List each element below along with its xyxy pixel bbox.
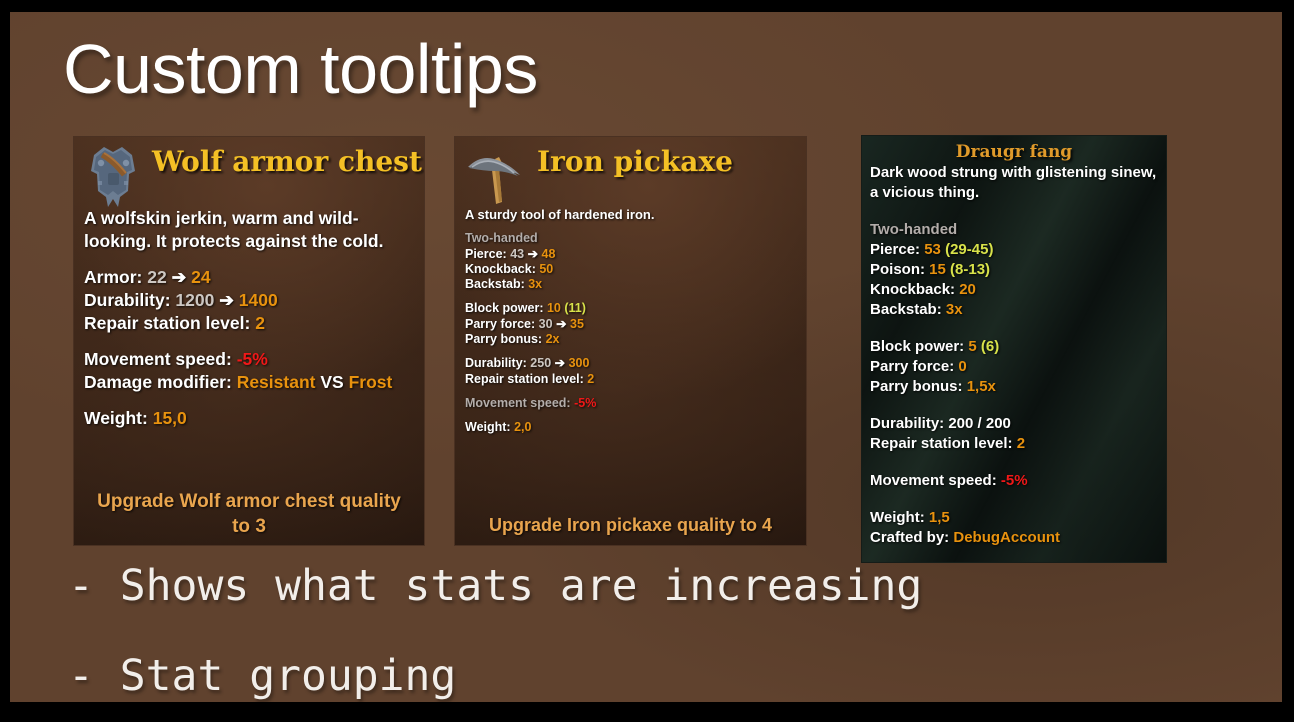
- stat-label: Repair station level:: [465, 372, 584, 386]
- stat-old-value: 30: [539, 317, 553, 331]
- tooltip-body: A wolfskin jerkin, warm and wild-looking…: [84, 207, 414, 430]
- stat-label: Parry bonus:: [870, 378, 963, 395]
- stat-value: 15,0: [153, 408, 187, 428]
- stat-label: Block power:: [870, 338, 964, 355]
- stat-old-value: 22: [147, 267, 166, 287]
- stat-parry-force: Parry force: 30 ➔ 35: [465, 317, 654, 332]
- stat-value-range: (8-13): [950, 261, 990, 278]
- stat-durability: Durability: 250 ➔ 300: [465, 356, 654, 371]
- arrow-right-icon: ➔: [172, 267, 187, 287]
- stat-crafted-by: Crafted by: DebugAccount: [870, 528, 1164, 548]
- stat-durability: Durability: 200 / 200: [870, 414, 1164, 434]
- stat-poison: Poison: 15 (8-13): [870, 260, 1164, 280]
- stat-backstab: Backstab: 3x: [465, 277, 654, 292]
- page-title: Custom tooltips: [63, 34, 538, 104]
- stat-weight: Weight: 2,0: [465, 420, 654, 435]
- stat-label: Movement speed:: [84, 349, 232, 369]
- bullet-list: - Shows what stats are increasing - Stat…: [68, 564, 1168, 702]
- arrow-right-icon: ➔: [556, 317, 566, 331]
- stat-label: Damage modifier:: [84, 372, 232, 392]
- stat-value: 15: [929, 261, 946, 278]
- stat-label: Movement speed:: [870, 472, 997, 489]
- stat-label: Durability:: [465, 356, 527, 370]
- tooltip-wolf-armor-chest[interactable]: Wolf armor chest A wolfskin jerkin, warm…: [73, 136, 425, 546]
- upgrade-quality-text[interactable]: Upgrade Iron pickaxe quality to 4: [455, 513, 806, 537]
- stat-value-range: (29-45): [945, 241, 993, 258]
- tooltip-title: Wolf armor chest: [152, 145, 422, 178]
- item-description: A sturdy tool of hardened iron.: [465, 207, 654, 222]
- stat-knockback: Knockback: 20: [870, 280, 1164, 300]
- stat-value: 0: [958, 358, 966, 375]
- slide-canvas: Custom tooltips Wolf a: [10, 12, 1282, 702]
- stat-value: -5%: [1001, 472, 1028, 489]
- stat-value: Resistant: [237, 372, 316, 392]
- item-description: Dark wood strung with glistening sinew, …: [870, 163, 1164, 203]
- arrow-right-icon: ➔: [555, 356, 565, 370]
- stat-old-value: 250: [530, 356, 551, 370]
- stat-label: Crafted by:: [870, 529, 949, 546]
- stat-value-range: (6): [981, 338, 999, 355]
- stat-label: Pierce:: [465, 247, 507, 261]
- stat-weight: Weight: 1,5: [870, 508, 1164, 528]
- stat-value: 53: [924, 241, 941, 258]
- stat-value: 1,5: [929, 509, 950, 526]
- stat-weight: Weight: 15,0: [84, 407, 414, 430]
- item-description: A wolfskin jerkin, warm and wild-looking…: [84, 207, 414, 253]
- stat-label: Movement speed:: [465, 396, 571, 410]
- iron-pickaxe-icon: [463, 143, 529, 209]
- stat-movement-speed: Movement speed: -5%: [465, 396, 654, 411]
- bullet-item: - Stat grouping: [68, 654, 1168, 700]
- stat-handedness: Two-handed: [465, 231, 654, 246]
- stat-value: 1,5x: [967, 378, 996, 395]
- stat-new-value: 1400: [239, 290, 278, 310]
- stat-label: Block power:: [465, 301, 544, 315]
- tooltip-title: Draugr fang: [862, 142, 1166, 162]
- stat-new-value: 300: [569, 356, 590, 370]
- stat-label: Backstab:: [465, 277, 525, 291]
- stat-parry-bonus: Parry bonus: 2x: [465, 332, 654, 347]
- stat-value: 20: [959, 281, 976, 298]
- stat-label: Parry bonus:: [465, 332, 542, 346]
- stat-old-value: 43: [510, 247, 524, 261]
- stat-value: 50: [539, 262, 553, 276]
- stat-value: 5: [968, 338, 976, 355]
- stat-label: Weight:: [870, 509, 925, 526]
- stat-repair-station-level: Repair station level: 2: [870, 434, 1164, 454]
- stat-label: Parry force:: [870, 358, 954, 375]
- stat-label: Repair station level:: [84, 313, 250, 333]
- stat-label: Parry force:: [465, 317, 535, 331]
- stat-value-secondary: Frost: [349, 372, 393, 392]
- stat-value: 2: [255, 313, 265, 333]
- stat-value: 2: [587, 372, 594, 386]
- stat-movement-speed: Movement speed: -5%: [84, 348, 414, 371]
- stat-movement-speed: Movement speed: -5%: [870, 471, 1164, 491]
- stat-label: Poison:: [870, 261, 925, 278]
- wolf-armor-chest-icon: [82, 141, 144, 211]
- stat-label: Backstab:: [870, 301, 942, 318]
- stat-value: -5%: [574, 396, 596, 410]
- stat-value: 3x: [946, 301, 963, 318]
- stat-label: Weight:: [84, 408, 148, 428]
- stat-new-value: 35: [570, 317, 584, 331]
- stat-repair-station-level: Repair station level: 2: [465, 372, 654, 387]
- tooltip-body: Dark wood strung with glistening sinew, …: [870, 163, 1164, 548]
- stat-backstab: Backstab: 3x: [870, 300, 1164, 320]
- tooltip-draugr-fang[interactable]: Draugr fang Dark wood strung with gliste…: [861, 135, 1167, 563]
- stat-vs-text: VS: [320, 372, 343, 392]
- stat-durability: Durability: 1200 ➔ 1400: [84, 289, 414, 312]
- stat-label: Armor:: [84, 267, 142, 287]
- stat-value: 3x: [528, 277, 542, 291]
- upgrade-quality-text[interactable]: Upgrade Wolf armor chest quality to 3: [74, 489, 424, 539]
- arrow-right-icon: ➔: [219, 290, 234, 310]
- stat-value-range: (11): [564, 301, 586, 315]
- stat-armor: Armor: 22 ➔ 24: [84, 266, 414, 289]
- tooltip-title: Iron pickaxe: [537, 145, 733, 178]
- stat-new-value: 48: [542, 247, 556, 261]
- stat-value: 2: [1017, 435, 1025, 452]
- stat-label: Pierce:: [870, 241, 920, 258]
- arrow-right-icon: ➔: [528, 247, 538, 261]
- tooltip-body: A sturdy tool of hardened iron. Two-hand…: [465, 207, 654, 436]
- stat-new-value: 24: [191, 267, 210, 287]
- stat-damage-modifier: Damage modifier: Resistant VS Frost: [84, 371, 414, 394]
- stat-label: Durability:: [84, 290, 171, 310]
- stat-label: Knockback:: [465, 262, 536, 276]
- stat-repair-station-level: Repair station level: 2: [84, 312, 414, 335]
- stat-knockback: Knockback: 50: [465, 262, 654, 277]
- stat-label: Weight:: [465, 420, 511, 434]
- stat-label: Repair station level:: [870, 435, 1013, 452]
- stat-value: DebugAccount: [953, 529, 1060, 546]
- bullet-item: - Shows what stats are increasing: [68, 564, 1168, 610]
- stat-label: Knockback:: [870, 281, 955, 298]
- stat-parry-force: Parry force: 0: [870, 357, 1164, 377]
- stat-block-power: Block power: 5 (6): [870, 337, 1164, 357]
- stat-value: 2,0: [514, 420, 531, 434]
- stat-pierce: Pierce: 43 ➔ 48: [465, 247, 654, 262]
- stat-block-power: Block power: 10 (11): [465, 301, 654, 316]
- stat-handedness: Two-handed: [870, 220, 1164, 240]
- stat-value: 2x: [546, 332, 560, 346]
- tooltip-iron-pickaxe[interactable]: Iron pickaxe A sturdy tool of hardened i…: [454, 136, 807, 546]
- stat-parry-bonus: Parry bonus: 1,5x: [870, 377, 1164, 397]
- stat-value: 10: [547, 301, 561, 315]
- stat-pierce: Pierce: 53 (29-45): [870, 240, 1164, 260]
- stat-old-value: 1200: [175, 290, 214, 310]
- stat-value: -5%: [237, 349, 268, 369]
